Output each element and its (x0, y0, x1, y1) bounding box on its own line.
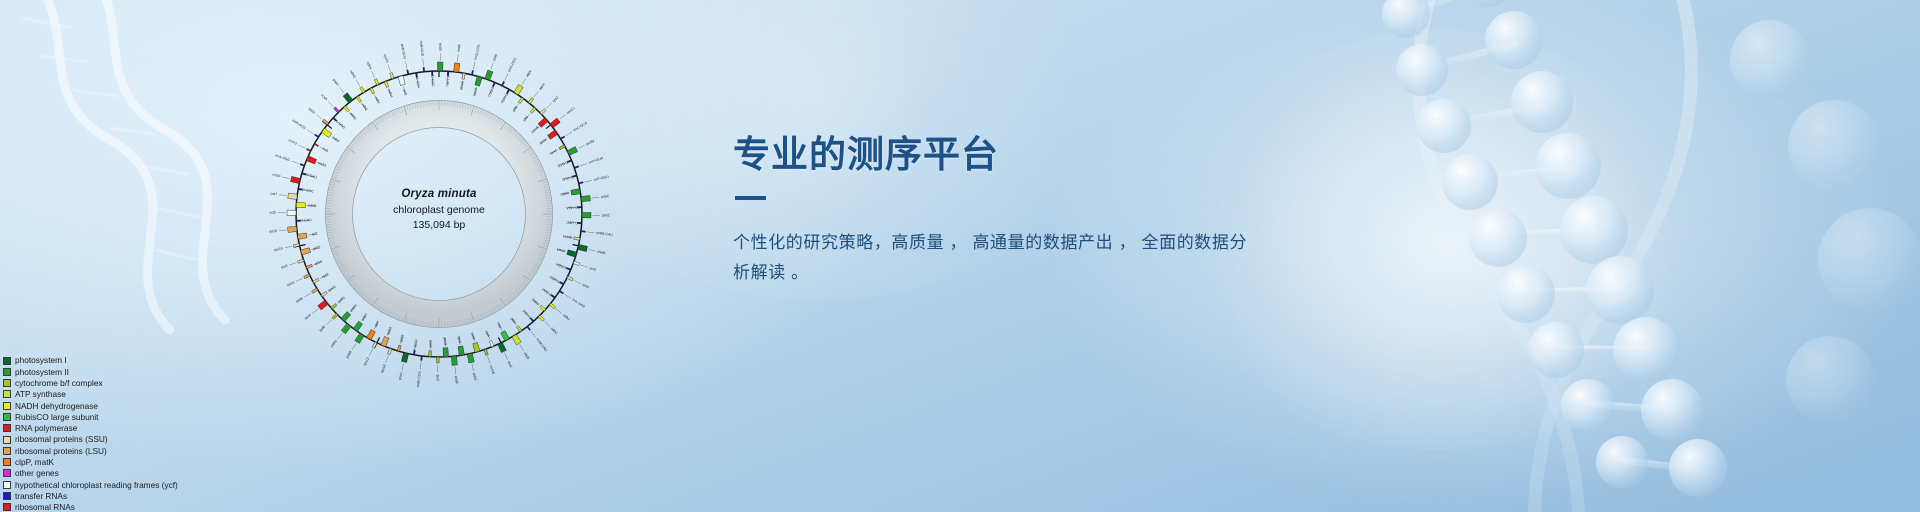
gene-label: petD (337, 295, 346, 303)
gene-label: psbE (443, 336, 447, 345)
gene-label: rps8 (321, 272, 329, 279)
gene-label: psbB (345, 350, 353, 359)
gene-label: rpl36 (295, 296, 304, 304)
gene-label: rrn4.5 (288, 138, 298, 146)
legend-color-swatch (3, 503, 11, 511)
gene-label: clpP (373, 320, 380, 328)
gene-label: trnC-GCA (573, 121, 589, 133)
gene-label: psbD (560, 191, 569, 196)
legend-item: hypothetical chloroplast reading frames … (3, 479, 333, 490)
gene-label: petA (470, 331, 476, 340)
legend-item: NADH dehydrogenase (3, 400, 333, 411)
legend-label: ATP synthase (15, 390, 66, 398)
gene-label: atpB (523, 352, 531, 361)
gene-label: rpl33 (399, 334, 405, 343)
legend-item: photosystem I (3, 355, 333, 366)
gene-label: trnR-UCU (500, 89, 511, 105)
gene-label: ccsA (320, 93, 329, 102)
page-title: 专业的测序平台 (733, 135, 1293, 176)
gene-label: trnN-GUU (400, 44, 407, 61)
gene-label: trnV-GAC (298, 187, 314, 194)
chloroplast-genome-map: psbAtrnK-UUUmatKrps16trnQ-UUGpsbKpsbItrn… (243, 18, 635, 410)
gene-label: trnY-GUA (588, 156, 604, 165)
legend-color-swatch (3, 481, 11, 489)
gene-label: ndhK (530, 297, 539, 306)
gene-label: trnL-UAA (571, 298, 586, 309)
gene-label: rps11 (327, 284, 336, 292)
gene-label: ycf3 (589, 266, 596, 272)
legend-label: other genes (15, 469, 59, 477)
gene-label: ndhH (387, 89, 394, 99)
gene-label: psbK (472, 88, 478, 97)
gene-label: ndhF (332, 136, 341, 144)
genome-map-legend: photosystem Iphotosystem IIcytochrome b/… (3, 355, 333, 512)
genome-map-svg: psbAtrnK-UUUmatKrps16trnQ-UUGpsbKpsbItrn… (243, 18, 635, 410)
gene-label: rpl2 (311, 232, 317, 237)
gene-label: psbM (586, 139, 596, 146)
gene-label: trnE-UUC (561, 174, 577, 182)
gene-label: rpoC1 (566, 106, 576, 115)
gene-label: rpl22 (312, 245, 321, 251)
legend-item: ATP synthase (3, 389, 333, 400)
gene-label: atpF (511, 105, 518, 113)
gene-label: psbI (492, 54, 498, 62)
gene-label: rps16 (459, 81, 464, 90)
gene-label: cemA (489, 365, 496, 375)
gene-label: trnA-UGC (275, 153, 291, 162)
gene-label: trnV-UAC (521, 308, 534, 322)
gene-label: trnL-UAG (332, 117, 346, 130)
gene-label: ndhC (550, 327, 559, 336)
legend-color-swatch (3, 390, 11, 398)
gene-label: rpl23 (269, 229, 277, 234)
gene-label: ycf1 (402, 89, 408, 96)
gene-label: ndhE (361, 103, 369, 113)
gene-label: psbZ (602, 213, 611, 217)
legend-color-swatch (3, 413, 11, 421)
gene-label: trnI-CAU (298, 218, 312, 223)
gene-label: psaA (556, 247, 565, 253)
banner-copy: 专业的测序平台 个性化的研究策略，高质量 ， 高通量的数据产出 ， 全面的数据分… (733, 135, 1293, 288)
gene-label: psbH (349, 303, 358, 312)
gene-label: rrn23 (317, 161, 326, 168)
gene-label: rpoB (538, 138, 547, 146)
gene-label: rbcL (496, 321, 503, 329)
gene-label: rrn16 (272, 173, 281, 179)
gene-label: trnD-GUC (556, 159, 572, 169)
gene-label: ndhG (349, 69, 357, 79)
gene-label: rps14 (563, 234, 572, 239)
legend-label: RNA polymerase (15, 424, 77, 432)
gene-label: psaC (332, 78, 340, 87)
legend-item: clpP, matK (3, 457, 333, 468)
legend-color-swatch (3, 458, 11, 466)
legend-color-swatch (3, 368, 11, 376)
gene-label: psbA (438, 42, 442, 51)
gene-label: trnG-UCC (566, 220, 582, 225)
gene-label: psbL (457, 335, 462, 343)
gene-label: rpoC2 (530, 125, 540, 134)
legend-label: hypothetical chloroplast reading frames … (15, 481, 178, 489)
gene-label: trnT-GGU (593, 175, 609, 182)
legend-label: photosystem II (15, 368, 69, 376)
legend-label: cytochrome b/f complex (15, 379, 103, 387)
gene-label: psaI (507, 361, 513, 369)
gene-label: matK (456, 43, 461, 52)
gene-label: petB (318, 324, 326, 332)
title-underline-rule (735, 196, 766, 200)
gene-label: trnS-GGA (555, 262, 571, 272)
gene-label: ndhB (308, 204, 317, 209)
gene-label: trnW-CCA (416, 370, 422, 387)
legend-color-swatch (3, 402, 11, 410)
gene-label: psbC (601, 194, 610, 199)
gene-label: atpH (538, 82, 546, 91)
gene-label: psbF (454, 376, 459, 384)
gene-label: ycf2 (270, 211, 277, 215)
legend-label: RubisCO large subunit (15, 413, 98, 421)
gene-label: rps3 (280, 264, 288, 270)
gene-label: trnS-GCU (487, 82, 497, 98)
gene-label: rpl32 (307, 107, 316, 115)
gene-label: trnT-UGU (549, 275, 564, 286)
legend-color-swatch (3, 436, 11, 444)
gene-label: rps7 (270, 192, 277, 197)
gene-label: ndhJ (562, 313, 571, 321)
legend-label: ribosomal proteins (SSU) (15, 435, 108, 443)
gene-label: atpI (522, 115, 529, 122)
gc-content-ring (339, 114, 539, 314)
gene-label: trnfM-CAU (596, 231, 613, 237)
legend-color-swatch (3, 492, 11, 500)
legend-item: other genes (3, 468, 333, 479)
gene-label: trnG-UCC (507, 56, 518, 72)
gene-label: rpl20 (386, 326, 393, 335)
gene-label: rpoA (304, 313, 313, 321)
gene-label: rps2 (552, 95, 560, 103)
gene-label: psbN (330, 339, 339, 348)
gene-label: trnK-UUU (445, 71, 450, 87)
legend-item: ribosomal proteins (SSU) (3, 434, 333, 445)
gene-label: ycf4 (484, 330, 490, 338)
legend-color-swatch (3, 469, 11, 477)
legend-label: clpP, matK (15, 458, 54, 466)
legend-item: ribosomal proteins (LSU) (3, 445, 333, 456)
legend-item: cytochrome b/f complex (3, 378, 333, 389)
legend-label: photosystem I (15, 356, 67, 364)
gene-label: psaJ (398, 372, 404, 380)
gene-label: rps18 (380, 364, 387, 374)
legend-item: RNA polymerase (3, 423, 333, 434)
hero-banner: psbAtrnK-UUUmatKrps16trnQ-UUGpsbKpsbItrn… (0, 0, 1920, 512)
gene-label: rps19 (274, 246, 283, 252)
gene-label: trnG-GCC (430, 71, 435, 87)
gene-label: trnF-GAA (541, 287, 556, 299)
legend-color-swatch (3, 424, 11, 432)
gene-label: trnQ-UUG (473, 44, 481, 61)
legend-label: ribosomal RNAs (15, 503, 75, 511)
gene-label: psbJ (472, 373, 478, 381)
gene-label: rps12 (363, 357, 370, 367)
legend-label: transfer RNAs (15, 492, 67, 500)
gene-label: ndhI (374, 96, 381, 104)
gene-label: trnP-UGG (412, 339, 419, 355)
gene-label: psbT (361, 312, 369, 321)
legend-item: ribosomal RNAs (3, 502, 333, 512)
legend-label: NADH dehydrogenase (15, 402, 98, 410)
gene-label: trnM-CAU (535, 337, 548, 352)
legend-item: photosystem II (3, 366, 333, 377)
gene-label: rps15 (383, 54, 390, 64)
legend-color-swatch (3, 357, 11, 365)
gene-label-layer: psbAtrnK-UUUmatKrps16trnQ-UUGpsbKpsbItrn… (269, 40, 614, 387)
legend-color-swatch (3, 379, 11, 387)
gene-label: trnH-GUG (419, 40, 425, 56)
legend-item: RubisCO large subunit (3, 411, 333, 422)
gene-label: petN (548, 149, 557, 156)
gene-label: petG (428, 339, 432, 347)
legend-color-swatch (3, 447, 11, 455)
gene-label: atpA (525, 69, 533, 78)
gene-label: rrn5 (322, 147, 329, 154)
gene-label: petL (436, 374, 440, 381)
gene-label: psaB (597, 250, 606, 256)
gene-label: rpl16 (314, 259, 323, 266)
gene-label: ndhA (366, 61, 373, 71)
legend-item: transfer RNAs (3, 490, 333, 501)
gene-label: atpE (509, 316, 517, 325)
gene-label: trnR-ACG (291, 119, 306, 131)
legend-label: ribosomal proteins (LSU) (15, 447, 107, 455)
gene-label: trnL-CAA (414, 74, 420, 90)
banner-subtitle: 个性化的研究策略，高质量 ， 高通量的数据产出 ， 全面的数据分析解读 。 (733, 228, 1253, 289)
gene-label: trnI-GAU (303, 172, 318, 180)
gene-label: rpl14 (286, 280, 295, 287)
gene-label: trnS-UGA (566, 205, 582, 210)
gene-label: ndhD (349, 112, 358, 121)
gene-label: rps4 (582, 283, 590, 290)
